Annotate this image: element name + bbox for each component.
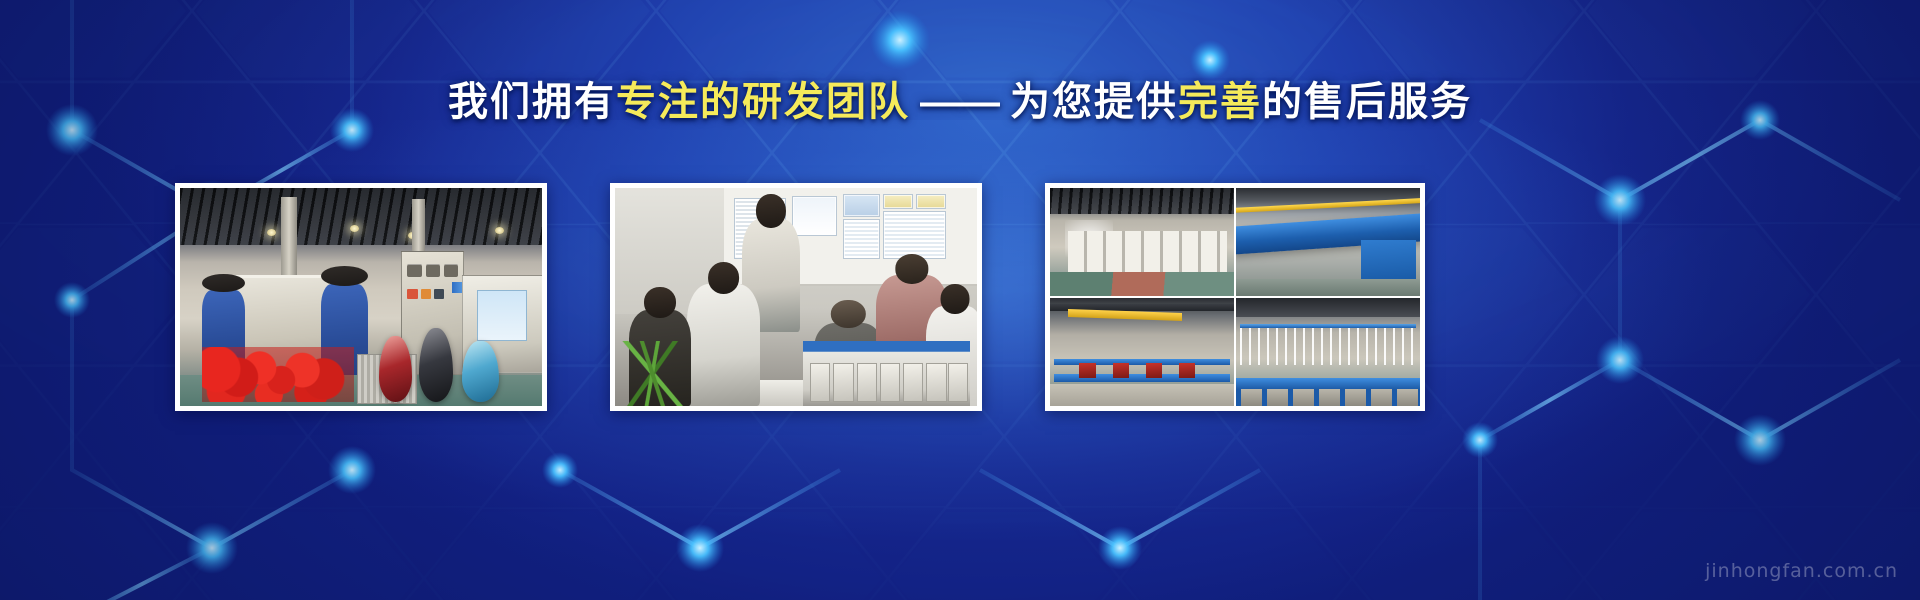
board-poster <box>792 196 837 236</box>
gallery <box>0 183 1920 411</box>
headline-segment-1: 我们拥有 <box>448 80 616 124</box>
board-poster <box>883 194 913 209</box>
red-cart <box>1179 363 1196 378</box>
cabinet-row <box>1068 231 1226 276</box>
info-sign <box>477 290 528 342</box>
person-head <box>708 262 740 294</box>
vase-red <box>379 336 412 401</box>
ceiling <box>1236 298 1420 317</box>
floor <box>1050 384 1234 406</box>
equipment-photo-inset <box>803 341 970 406</box>
person-head <box>831 300 865 328</box>
hanging-hooks <box>1240 328 1417 365</box>
photo-production-line <box>180 188 542 406</box>
photo-rnd-team-meeting <box>615 188 977 406</box>
composite-grid <box>1050 188 1420 406</box>
headline-segment-4: 为您提供 <box>1010 80 1178 124</box>
conveyor-legs <box>1236 389 1420 406</box>
potted-plant <box>619 341 684 406</box>
roof-trusses <box>1050 188 1234 214</box>
page-title: 我们拥有专注的研发团队——为您提供完善的售后服务 <box>0 78 1920 126</box>
red-cart <box>1146 363 1163 378</box>
indicator-lights <box>407 289 444 299</box>
floor-lanes <box>1050 272 1234 296</box>
board-poster <box>843 219 880 259</box>
gallery-item-production-line[interactable] <box>175 183 547 411</box>
vase-blue <box>462 341 498 402</box>
board-poster <box>916 194 946 209</box>
gallery-item-rnd-team-meeting[interactable] <box>610 183 982 411</box>
red-cart <box>1079 363 1096 378</box>
person-seated <box>687 284 759 406</box>
person-head <box>941 284 970 314</box>
floor <box>1236 279 1420 296</box>
board-poster <box>843 194 880 217</box>
person-head <box>895 254 928 283</box>
red-glass-products <box>202 347 354 402</box>
person-head <box>644 287 676 318</box>
quadrant-hanging-line <box>1236 298 1420 406</box>
board-poster <box>883 211 946 259</box>
promotional-banner: 我们拥有专注的研发团队——为您提供完善的售后服务 <box>0 0 1920 600</box>
factory-scene <box>180 188 542 406</box>
red-cart <box>1113 363 1130 378</box>
headline-segment-2: 专注的研发团队 <box>616 80 910 124</box>
worker-head <box>321 266 368 286</box>
headline-dash: —— <box>910 80 1010 124</box>
photo-workshop-composite <box>1050 188 1420 406</box>
person-head <box>756 194 786 228</box>
headline-segment-6: 的售后服务 <box>1262 80 1472 124</box>
meeting-scene <box>615 188 977 406</box>
headline-segment-5: 完善 <box>1178 80 1262 124</box>
gallery-item-workshop-composite[interactable] <box>1045 183 1425 411</box>
roof-trusses <box>180 188 542 245</box>
quadrant-conveyor-line <box>1050 298 1234 406</box>
yellow-pipe <box>1236 198 1420 213</box>
quadrant-workshop-cabinets <box>1050 188 1234 296</box>
quadrant-blue-duct <box>1236 188 1420 296</box>
control-knobs <box>407 261 457 281</box>
watermark: jinhongfan.com.cn <box>1705 560 1898 582</box>
